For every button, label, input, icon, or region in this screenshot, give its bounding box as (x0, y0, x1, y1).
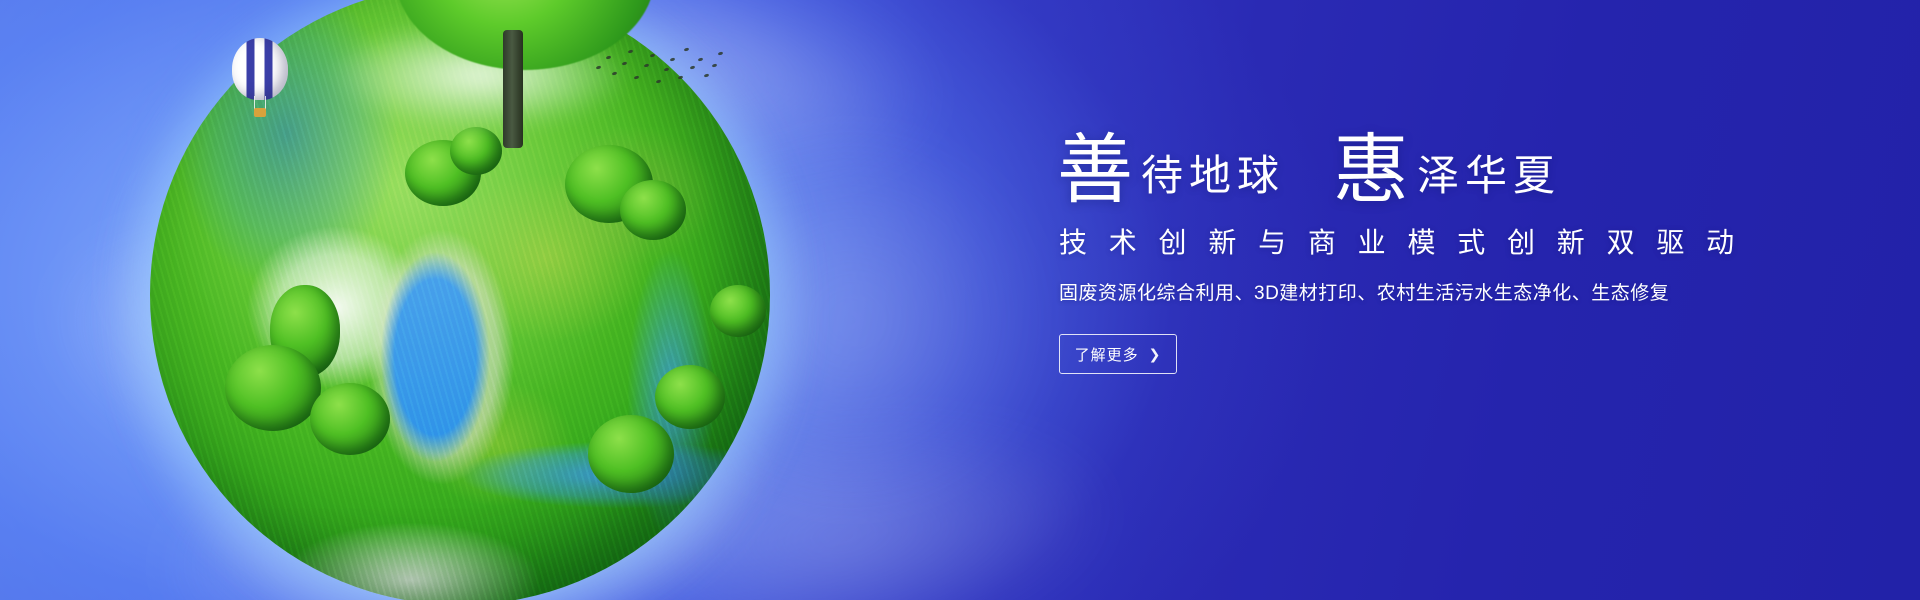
headline-big-char-2: 惠 (1333, 132, 1409, 208)
headline-small-text-2: 泽华夏 (1417, 155, 1561, 197)
learn-more-label: 了解更多 (1075, 344, 1139, 365)
page-tagline: 固废资源化综合利用、3D建材打印、农村生活污水生态净化、生态修复 (1059, 282, 1817, 307)
tree-canopy (225, 345, 321, 431)
tree-canopy (710, 285, 766, 337)
headline-group-1: 善 待地球 (1057, 126, 1285, 202)
page-subtitle: 技 术 创 新 与 商 业 模 式 创 新 双 驱 动 (1059, 226, 1817, 260)
page-title: 善 待地球 惠 泽华夏 (1057, 126, 1817, 202)
balloon-basket (254, 108, 266, 117)
hero-copy: 善 待地球 惠 泽华夏 技 术 创 新 与 商 业 模 式 创 新 双 驱 动 … (1057, 126, 1817, 374)
headline-group-2: 惠 泽华夏 (1333, 126, 1561, 202)
headline-small-text-1: 待地球 (1141, 155, 1285, 197)
chevron-right-icon: ❯ (1149, 347, 1162, 361)
tree-canopy (620, 180, 686, 240)
tree-canopy (310, 383, 390, 455)
tree-trunk (503, 30, 523, 148)
balloon-envelope (232, 38, 288, 100)
tree-canopy (588, 415, 674, 493)
hot-air-balloon-icon (232, 38, 288, 122)
bird-flock-icon (592, 46, 722, 94)
headline-big-char-1: 善 (1057, 132, 1133, 208)
hero-banner: 善 待地球 惠 泽华夏 技 术 创 新 与 商 业 模 式 创 新 双 驱 动 … (0, 0, 1920, 600)
tree-canopy (655, 365, 725, 429)
learn-more-button[interactable]: 了解更多 ❯ (1059, 334, 1177, 374)
